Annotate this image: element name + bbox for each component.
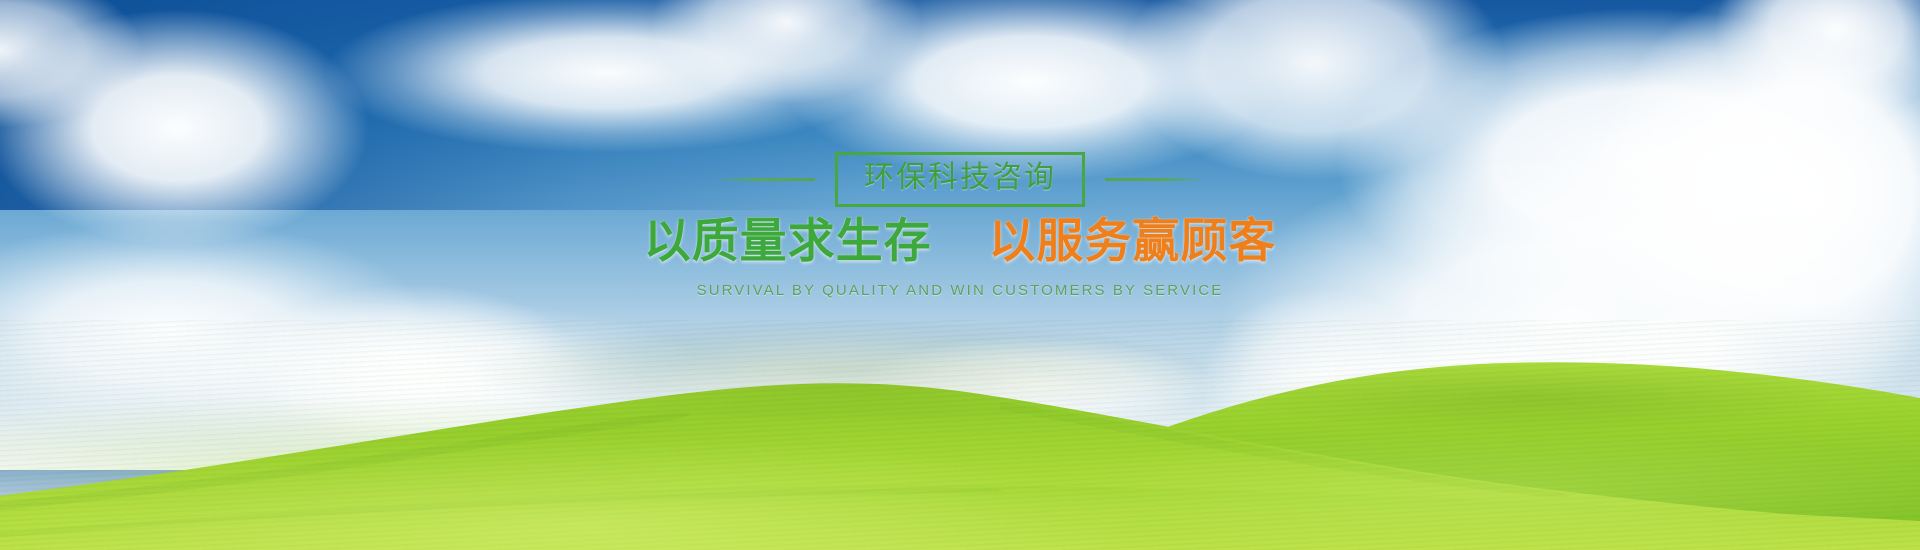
hero-banner: 环保科技咨询 以质量求生存 以服务赢顾客 SURVIVAL BY QUALITY…	[0, 0, 1920, 550]
eyebrow-label: 环保科技咨询	[864, 161, 1056, 195]
grass-hills	[0, 290, 1920, 550]
eyebrow-badge[interactable]: 环保科技咨询	[835, 152, 1085, 207]
